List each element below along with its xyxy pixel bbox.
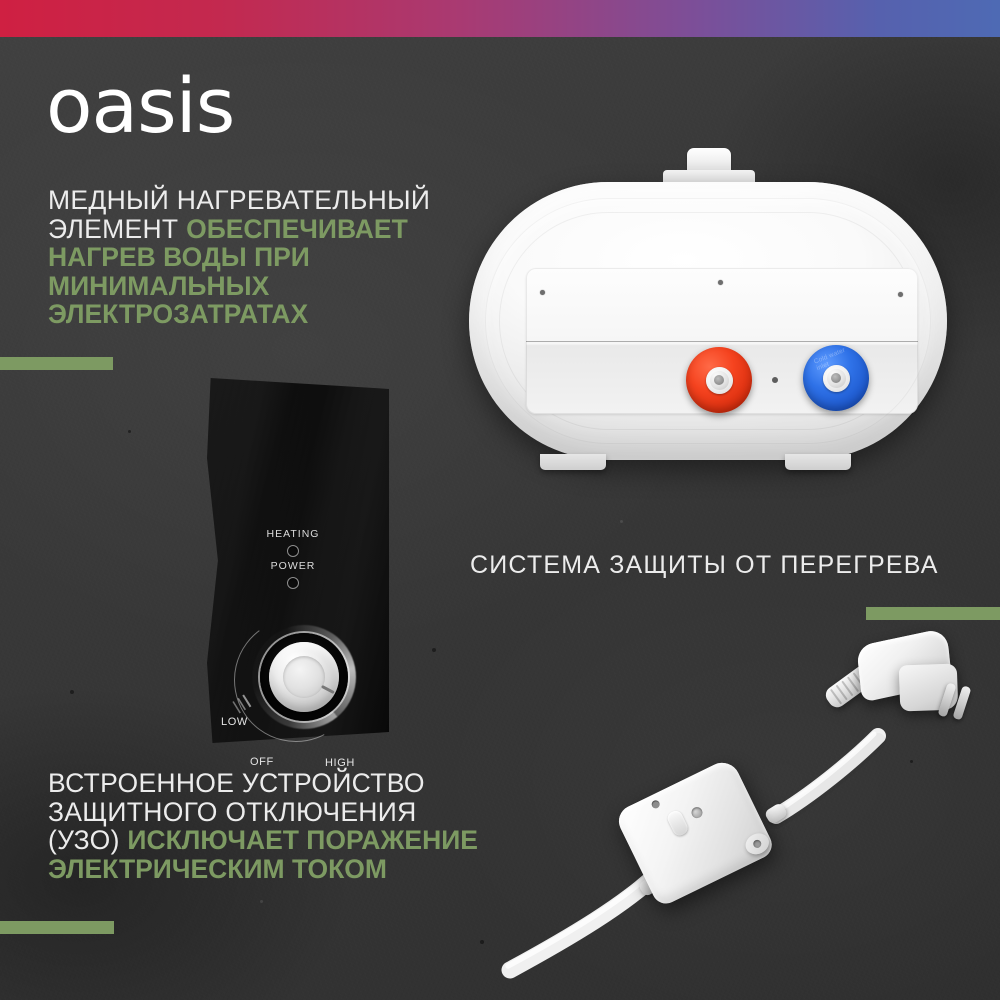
water-heater-unit: Cold water inlet	[455, 148, 960, 488]
brand-logo: oasis	[46, 68, 234, 144]
panel-screw	[718, 280, 723, 285]
cold-water-inlet-port	[803, 345, 869, 411]
power-indicator-label: POWER	[243, 560, 343, 572]
heating-indicator-label: HEATING	[243, 528, 343, 540]
top-gradient-banner	[0, 0, 1000, 37]
dial-label-high: HIGH	[325, 757, 355, 769]
hot-water-outlet-port	[686, 347, 752, 413]
rcd-reset-dot	[650, 799, 661, 810]
texture-speck	[432, 648, 436, 652]
texture-speck	[128, 430, 131, 433]
feature-text-heating-element: МЕДНЫЙ НАГРЕВАТЕЛЬНЫЙ ЭЛЕМЕНТ ОБЕСПЕЧИВА…	[48, 186, 478, 329]
feature-text-overheat-protection: СИСТЕМА ЗАЩИТЫ ОТ ПЕРЕГРЕВА	[470, 551, 939, 580]
texture-speck	[70, 690, 74, 694]
mounting-bracket-right	[785, 454, 851, 470]
heater-front-panel: Cold water inlet	[526, 268, 918, 414]
feature-text-rcd: ВСТРОЕННОЕ УСТРОЙСТВО ЗАЩИТНОГО ОТКЛЮЧЕН…	[48, 769, 488, 883]
cold-port-nozzle	[823, 365, 850, 392]
rcd-mounting-tab	[742, 830, 772, 858]
panel-screw	[898, 292, 903, 297]
mounting-bracket-left	[540, 454, 606, 470]
rcd-reset-button[interactable]	[690, 805, 705, 820]
knob-pointer-notch	[321, 685, 335, 694]
rcd-power-cord	[480, 620, 1000, 1000]
accent-bar-left-bottom	[0, 921, 114, 934]
control-panel: HEATING POWER LOW OFF HIGH	[207, 378, 389, 743]
dial-label-off: OFF	[250, 756, 274, 768]
texture-speck	[260, 900, 263, 903]
infographic-canvas: oasis МЕДНЫЙ НАГРЕВАТЕЛЬНЫЙ ЭЛЕМЕНТ ОБЕС…	[0, 0, 1000, 1000]
rcd-test-button[interactable]	[665, 809, 689, 838]
heater-shell: Cold water inlet	[469, 182, 947, 460]
temperature-knob[interactable]	[269, 642, 339, 712]
dial-label-low: LOW	[221, 716, 248, 728]
cold-inlet-embossed-label: Cold water inlet	[813, 342, 861, 372]
knob-inner-cap	[283, 656, 325, 698]
accent-bar-left-top	[0, 357, 113, 370]
heating-led-icon	[287, 545, 299, 557]
panel-screw	[540, 290, 545, 295]
panel-screw	[772, 377, 778, 383]
panel-seam	[526, 341, 918, 342]
power-led-icon	[287, 577, 299, 589]
texture-speck	[620, 520, 623, 523]
accent-bar-right	[866, 607, 1000, 620]
hot-port-nozzle	[706, 367, 733, 394]
